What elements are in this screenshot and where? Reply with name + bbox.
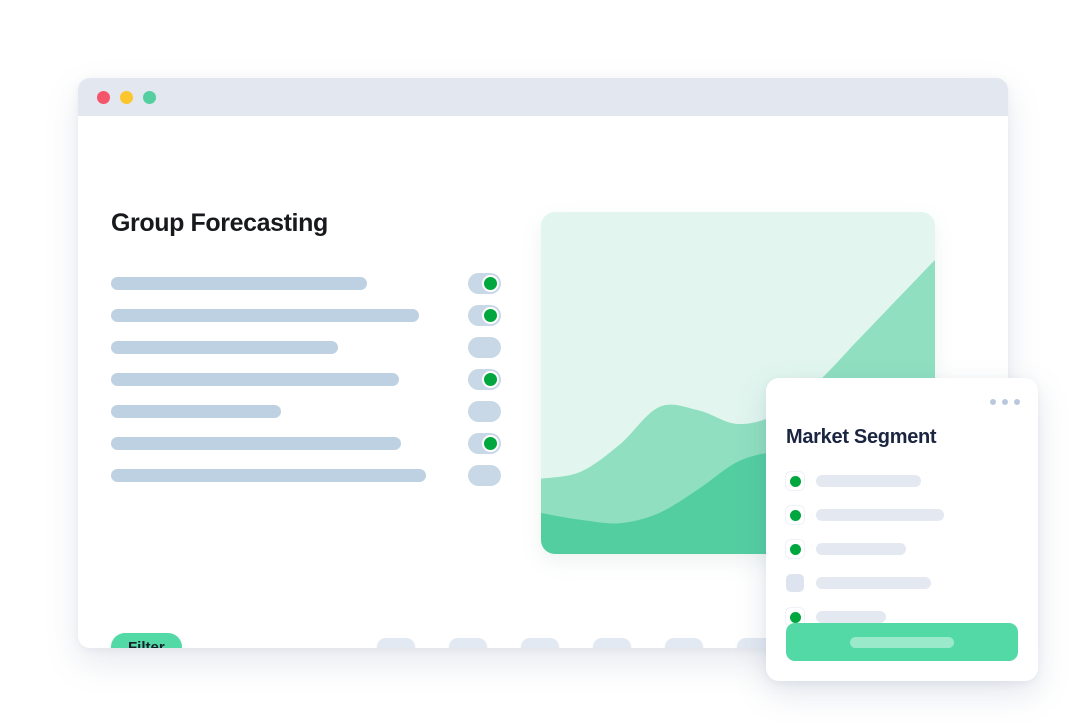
market-segment-row — [786, 571, 1018, 605]
checkbox-check-icon — [790, 612, 801, 623]
segment-checkbox-4[interactable] — [786, 574, 804, 592]
market-segment-card: Market Segment — [766, 378, 1038, 681]
toggle-knob — [482, 435, 499, 452]
settings-row — [111, 333, 501, 365]
settings-row-label-placeholder — [111, 437, 401, 450]
settings-row — [111, 429, 501, 461]
minimize-window-icon[interactable] — [120, 91, 133, 104]
toggle-knob — [482, 307, 499, 324]
segment-row-label-placeholder — [816, 475, 921, 487]
segment-checkbox-2[interactable] — [786, 506, 804, 524]
segment-checkbox-3[interactable] — [786, 540, 804, 558]
checkbox-check-icon — [790, 476, 801, 487]
filter-chip[interactable] — [521, 638, 559, 648]
market-segment-submit-button[interactable] — [786, 623, 1018, 661]
settings-toggle-2[interactable] — [468, 305, 501, 326]
checkbox-check-icon — [790, 510, 801, 521]
settings-row-label-placeholder — [111, 309, 419, 322]
settings-row — [111, 269, 501, 301]
more-dot — [1014, 399, 1020, 405]
window-titlebar — [78, 78, 1008, 116]
segment-row-label-placeholder — [816, 611, 886, 623]
filter-button[interactable]: Filter — [111, 633, 182, 648]
stage: Group Forecasting Filter — [0, 0, 1086, 723]
settings-row-list — [111, 269, 501, 493]
settings-toggle-5[interactable] — [468, 401, 501, 422]
filter-chip[interactable] — [665, 638, 703, 648]
settings-row-label-placeholder — [111, 277, 367, 290]
market-segment-row — [786, 503, 1018, 537]
filter-chip[interactable] — [449, 638, 487, 648]
more-dot — [1002, 399, 1008, 405]
settings-row — [111, 397, 501, 429]
more-dot — [990, 399, 996, 405]
settings-row-label-placeholder — [111, 469, 426, 482]
more-horizontal-icon[interactable] — [990, 399, 1020, 405]
settings-toggle-6[interactable] — [468, 433, 501, 454]
settings-row — [111, 301, 501, 333]
segment-row-label-placeholder — [816, 509, 944, 521]
maximize-window-icon[interactable] — [143, 91, 156, 104]
settings-row-label-placeholder — [111, 373, 399, 386]
settings-row — [111, 365, 501, 397]
settings-row-label-placeholder — [111, 405, 281, 418]
settings-toggle-7[interactable] — [468, 465, 501, 486]
settings-toggle-1[interactable] — [468, 273, 501, 294]
filter-chip[interactable] — [593, 638, 631, 648]
page-title: Group Forecasting — [111, 209, 328, 238]
settings-row — [111, 461, 501, 493]
close-window-icon[interactable] — [97, 91, 110, 104]
market-segment-title: Market Segment — [786, 426, 936, 449]
submit-button-label-placeholder — [850, 637, 954, 648]
segment-row-label-placeholder — [816, 577, 931, 589]
segment-row-label-placeholder — [816, 543, 906, 555]
market-segment-row — [786, 537, 1018, 571]
market-segment-list — [786, 469, 1018, 639]
toggle-knob — [482, 275, 499, 292]
settings-toggle-3[interactable] — [468, 337, 501, 358]
settings-toggle-4[interactable] — [468, 369, 501, 390]
settings-row-label-placeholder — [111, 341, 338, 354]
market-segment-row — [786, 469, 1018, 503]
filter-chip[interactable] — [377, 638, 415, 648]
segment-checkbox-1[interactable] — [786, 472, 804, 490]
toggle-knob — [482, 371, 499, 388]
checkbox-check-icon — [790, 544, 801, 555]
